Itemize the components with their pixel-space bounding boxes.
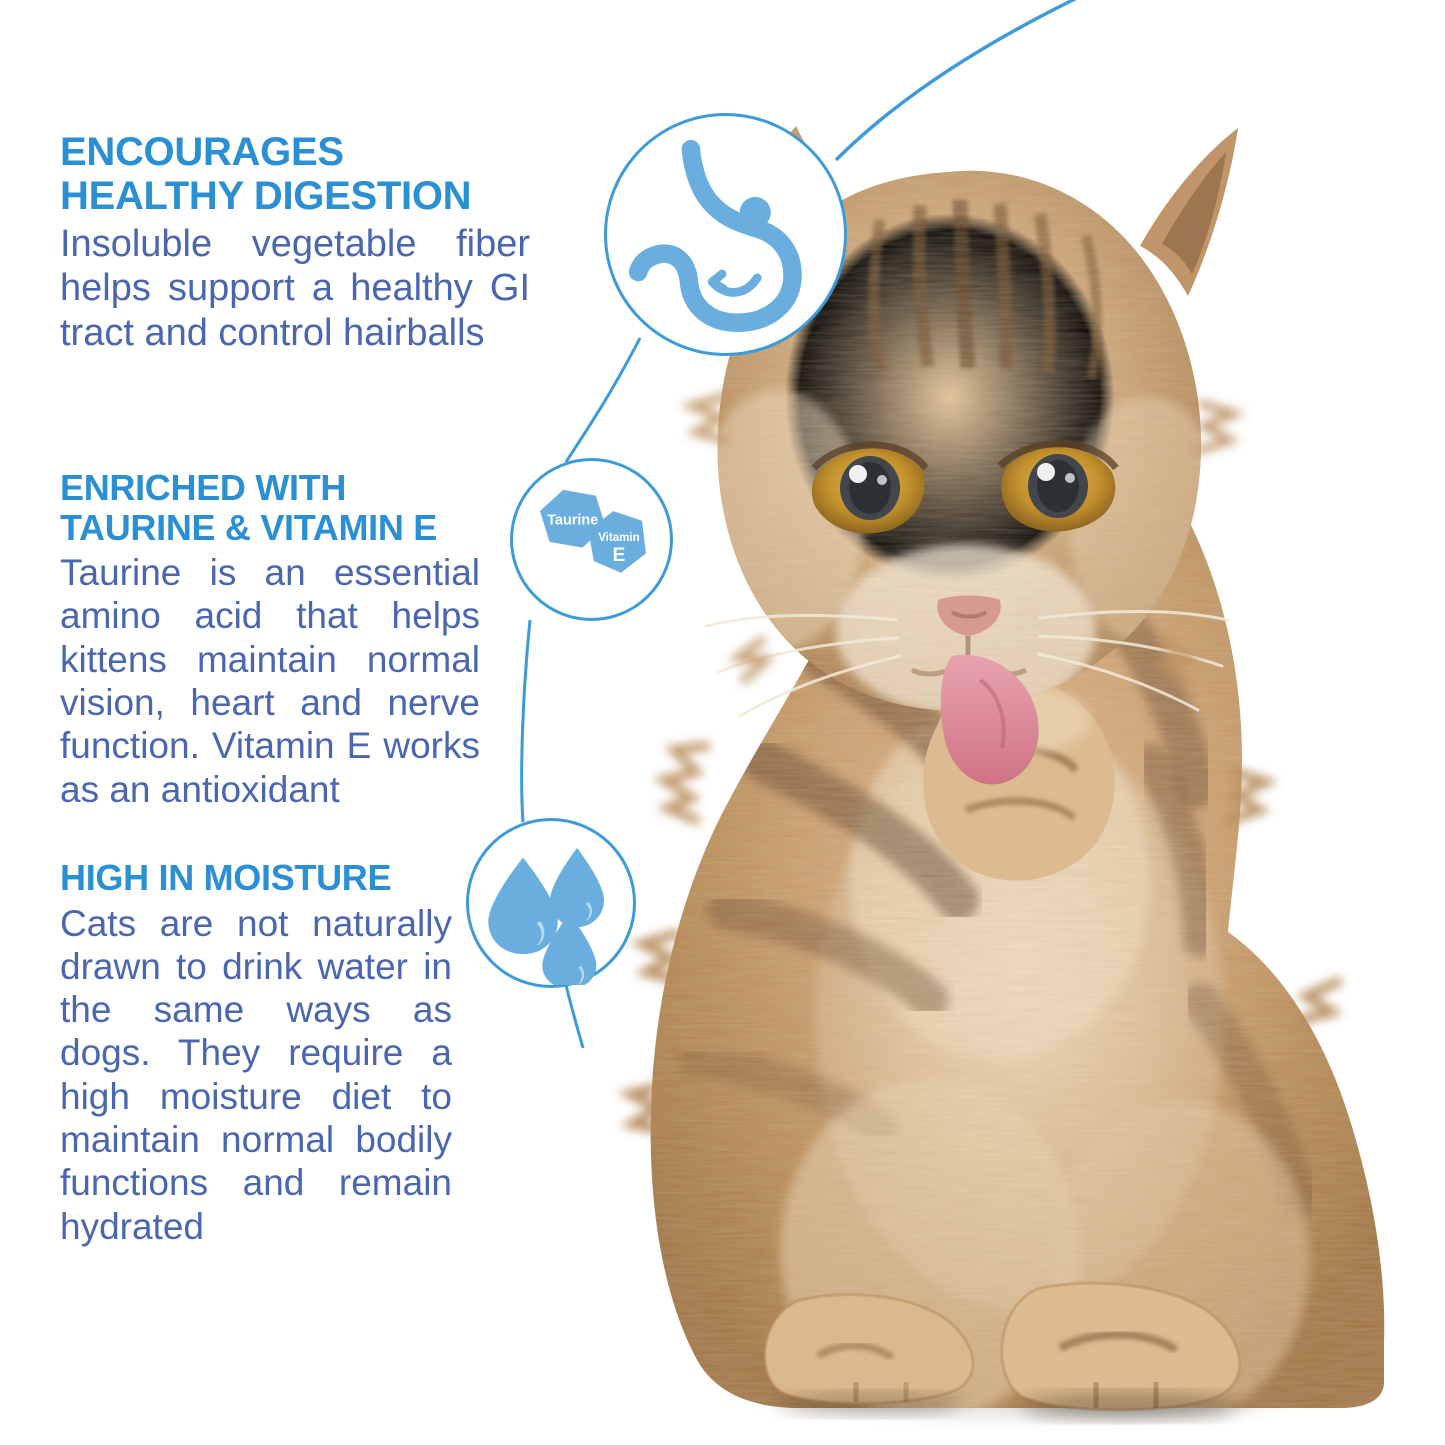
taurine-hexagon-label: Taurine [547,513,598,529]
feature-moisture-body: Cats are not naturally drawn to drink wa… [60,902,452,1248]
feature-digestion-body: Insoluble vegetable fiber helps support … [60,222,530,355]
feature-moisture-heading: HIGH IN MOISTURE [60,858,452,898]
feature-taurine-body: Taurine is an essential amino acid that … [60,551,480,811]
feature-taurine: ENRICHED WITH TAURINE & VITAMIN E Taurin… [60,468,480,811]
infographic-page: Taurine Vitamin E ENCOURAGES HEALTHY DIG… [0,0,1445,1445]
vitamin-hexagon-label-line2: E [613,545,626,566]
vitamin-hexagon-label-line1: Vitamin [598,532,640,544]
taurine-vitamin-e-hexagons-icon: Taurine Vitamin E [510,458,673,621]
droplet-large [488,858,557,954]
water-droplets-icon [466,818,636,988]
droplet-top-right [550,848,604,927]
stomach-digestion-icon [604,113,847,356]
feature-taurine-heading: ENRICHED WITH TAURINE & VITAMIN E [60,468,480,547]
feature-digestion: ENCOURAGES HEALTHY DIGESTION Insoluble v… [60,130,530,355]
feature-digestion-heading: ENCOURAGES HEALTHY DIGESTION [60,130,530,218]
feature-moisture: HIGH IN MOISTURE Cats are not naturally … [60,858,452,1248]
